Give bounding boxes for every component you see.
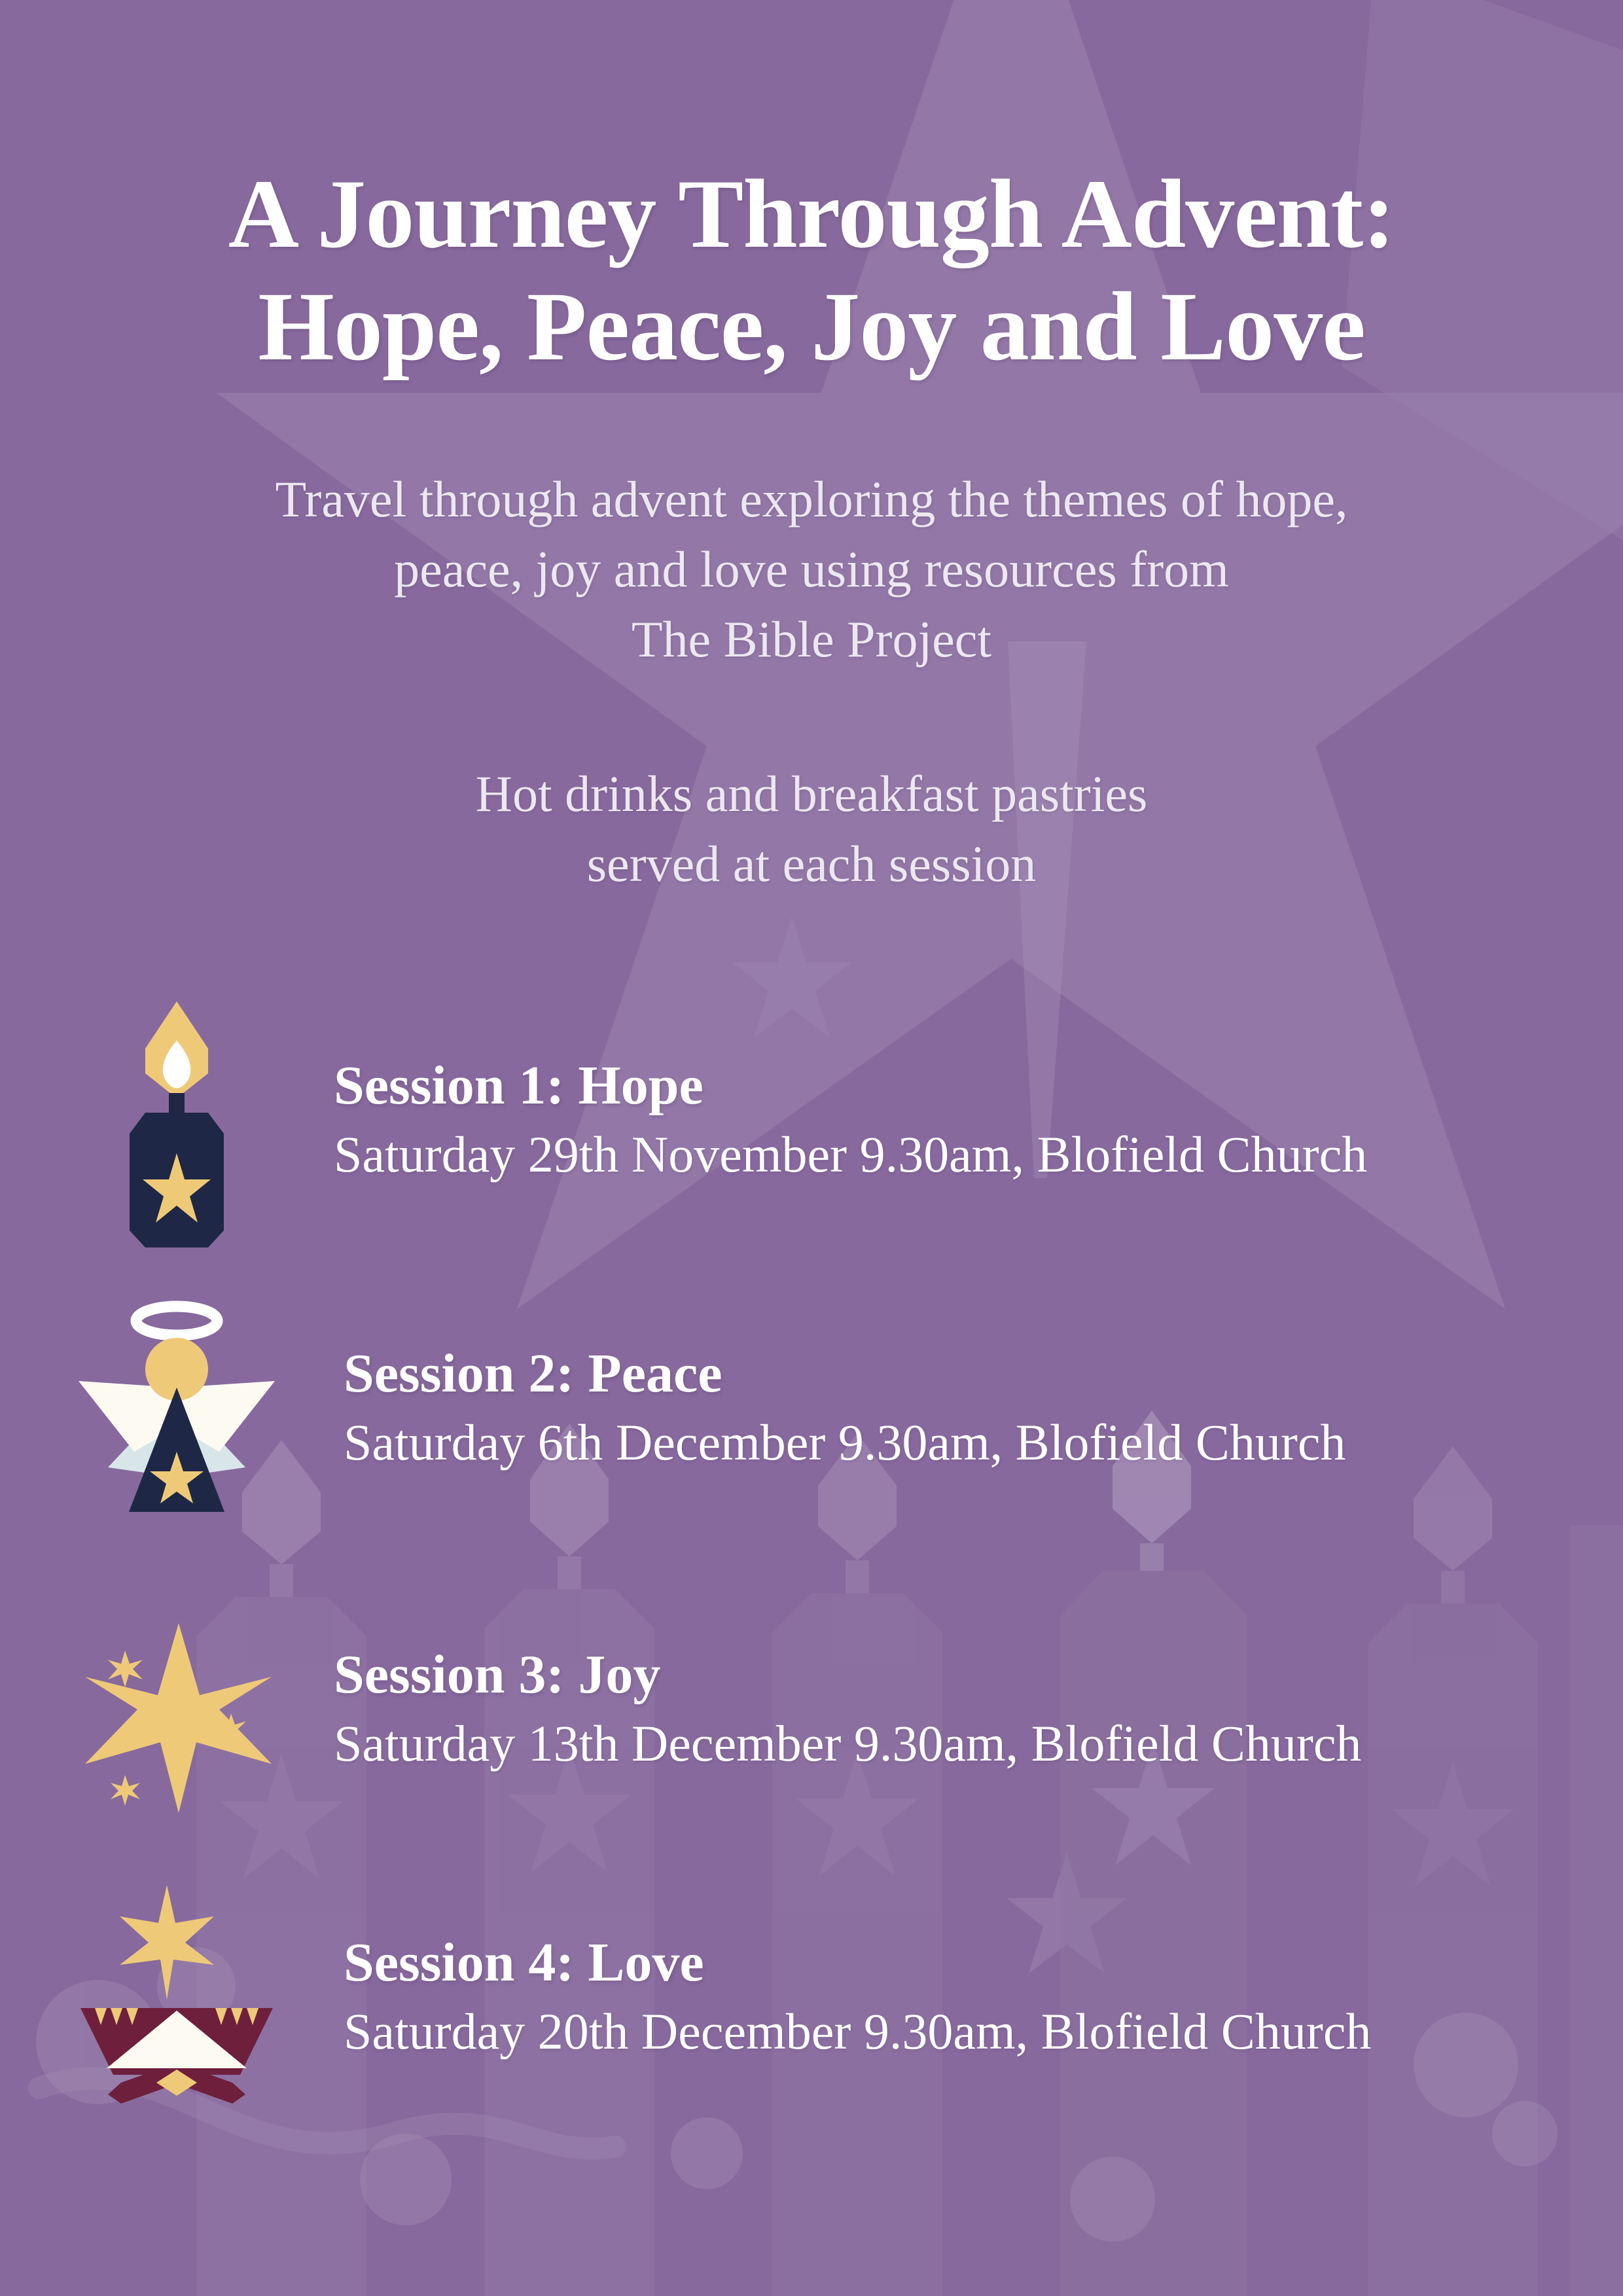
title-line-2: Hope, Peace, Joy and Love <box>0 270 1623 384</box>
page-title: A Journey Through Advent: Hope, Peace, J… <box>0 158 1623 384</box>
session-3-text: Session 3: Joy Saturday 13th December 9.… <box>327 1642 1544 1774</box>
intro-line-2: peace, joy and love using resources from <box>0 535 1623 605</box>
session-2-detail: Saturday 6th December 9.30am, Blofield C… <box>344 1411 1544 1473</box>
session-4-detail: Saturday 20th December 9.30am, Blofield … <box>344 2000 1544 2062</box>
title-line-1: A Journey Through Advent: <box>0 158 1623 271</box>
session-1-text: Session 1: Hope Saturday 29th November 9… <box>327 1053 1544 1185</box>
session-row-1: Session 1: Hope Saturday 29th November 9… <box>26 982 1544 1257</box>
session-1-title: Session 1: Hope <box>334 1053 1544 1118</box>
refreshments-line-2: served at each session <box>0 829 1623 899</box>
intro-line-3: The Bible Project <box>0 605 1623 675</box>
advent-poster: A Journey Through Advent: Hope, Peace, J… <box>0 0 1623 2296</box>
session-3-icon-wrap <box>26 1584 327 1833</box>
manger-icon <box>69 1878 285 2114</box>
session-row-3: Session 3: Joy Saturday 13th December 9.… <box>26 1584 1544 1833</box>
session-4-title: Session 4: Love <box>344 1930 1544 1995</box>
session-4-text: Session 4: Love Saturday 20th December 9… <box>327 1930 1544 2062</box>
session-3-title: Session 3: Joy <box>334 1642 1544 1707</box>
session-4-icon-wrap <box>26 1865 327 2127</box>
star-icon <box>69 1597 285 1820</box>
intro-paragraph: Travel through advent exploring the them… <box>0 465 1623 675</box>
refreshments-line-1: Hot drinks and breakfast pastries <box>0 759 1623 829</box>
session-1-icon-wrap <box>26 982 327 1257</box>
candle-icon <box>98 988 255 1250</box>
session-row-4: Session 4: Love Saturday 20th December 9… <box>26 1865 1544 2127</box>
session-2-text: Session 2: Peace Saturday 6th December 9… <box>327 1341 1544 1473</box>
session-2-icon-wrap <box>26 1276 327 1538</box>
refreshments-note: Hot drinks and breakfast pastries served… <box>0 759 1623 899</box>
session-3-detail: Saturday 13th December 9.30am, Blofield … <box>334 1712 1544 1774</box>
session-1-detail: Saturday 29th November 9.30am, Blofield … <box>334 1123 1544 1185</box>
session-row-2: Session 2: Peace Saturday 6th December 9… <box>26 1276 1544 1538</box>
angel-icon <box>69 1289 285 1525</box>
intro-line-1: Travel through advent exploring the them… <box>0 465 1623 535</box>
session-2-title: Session 2: Peace <box>344 1341 1544 1406</box>
